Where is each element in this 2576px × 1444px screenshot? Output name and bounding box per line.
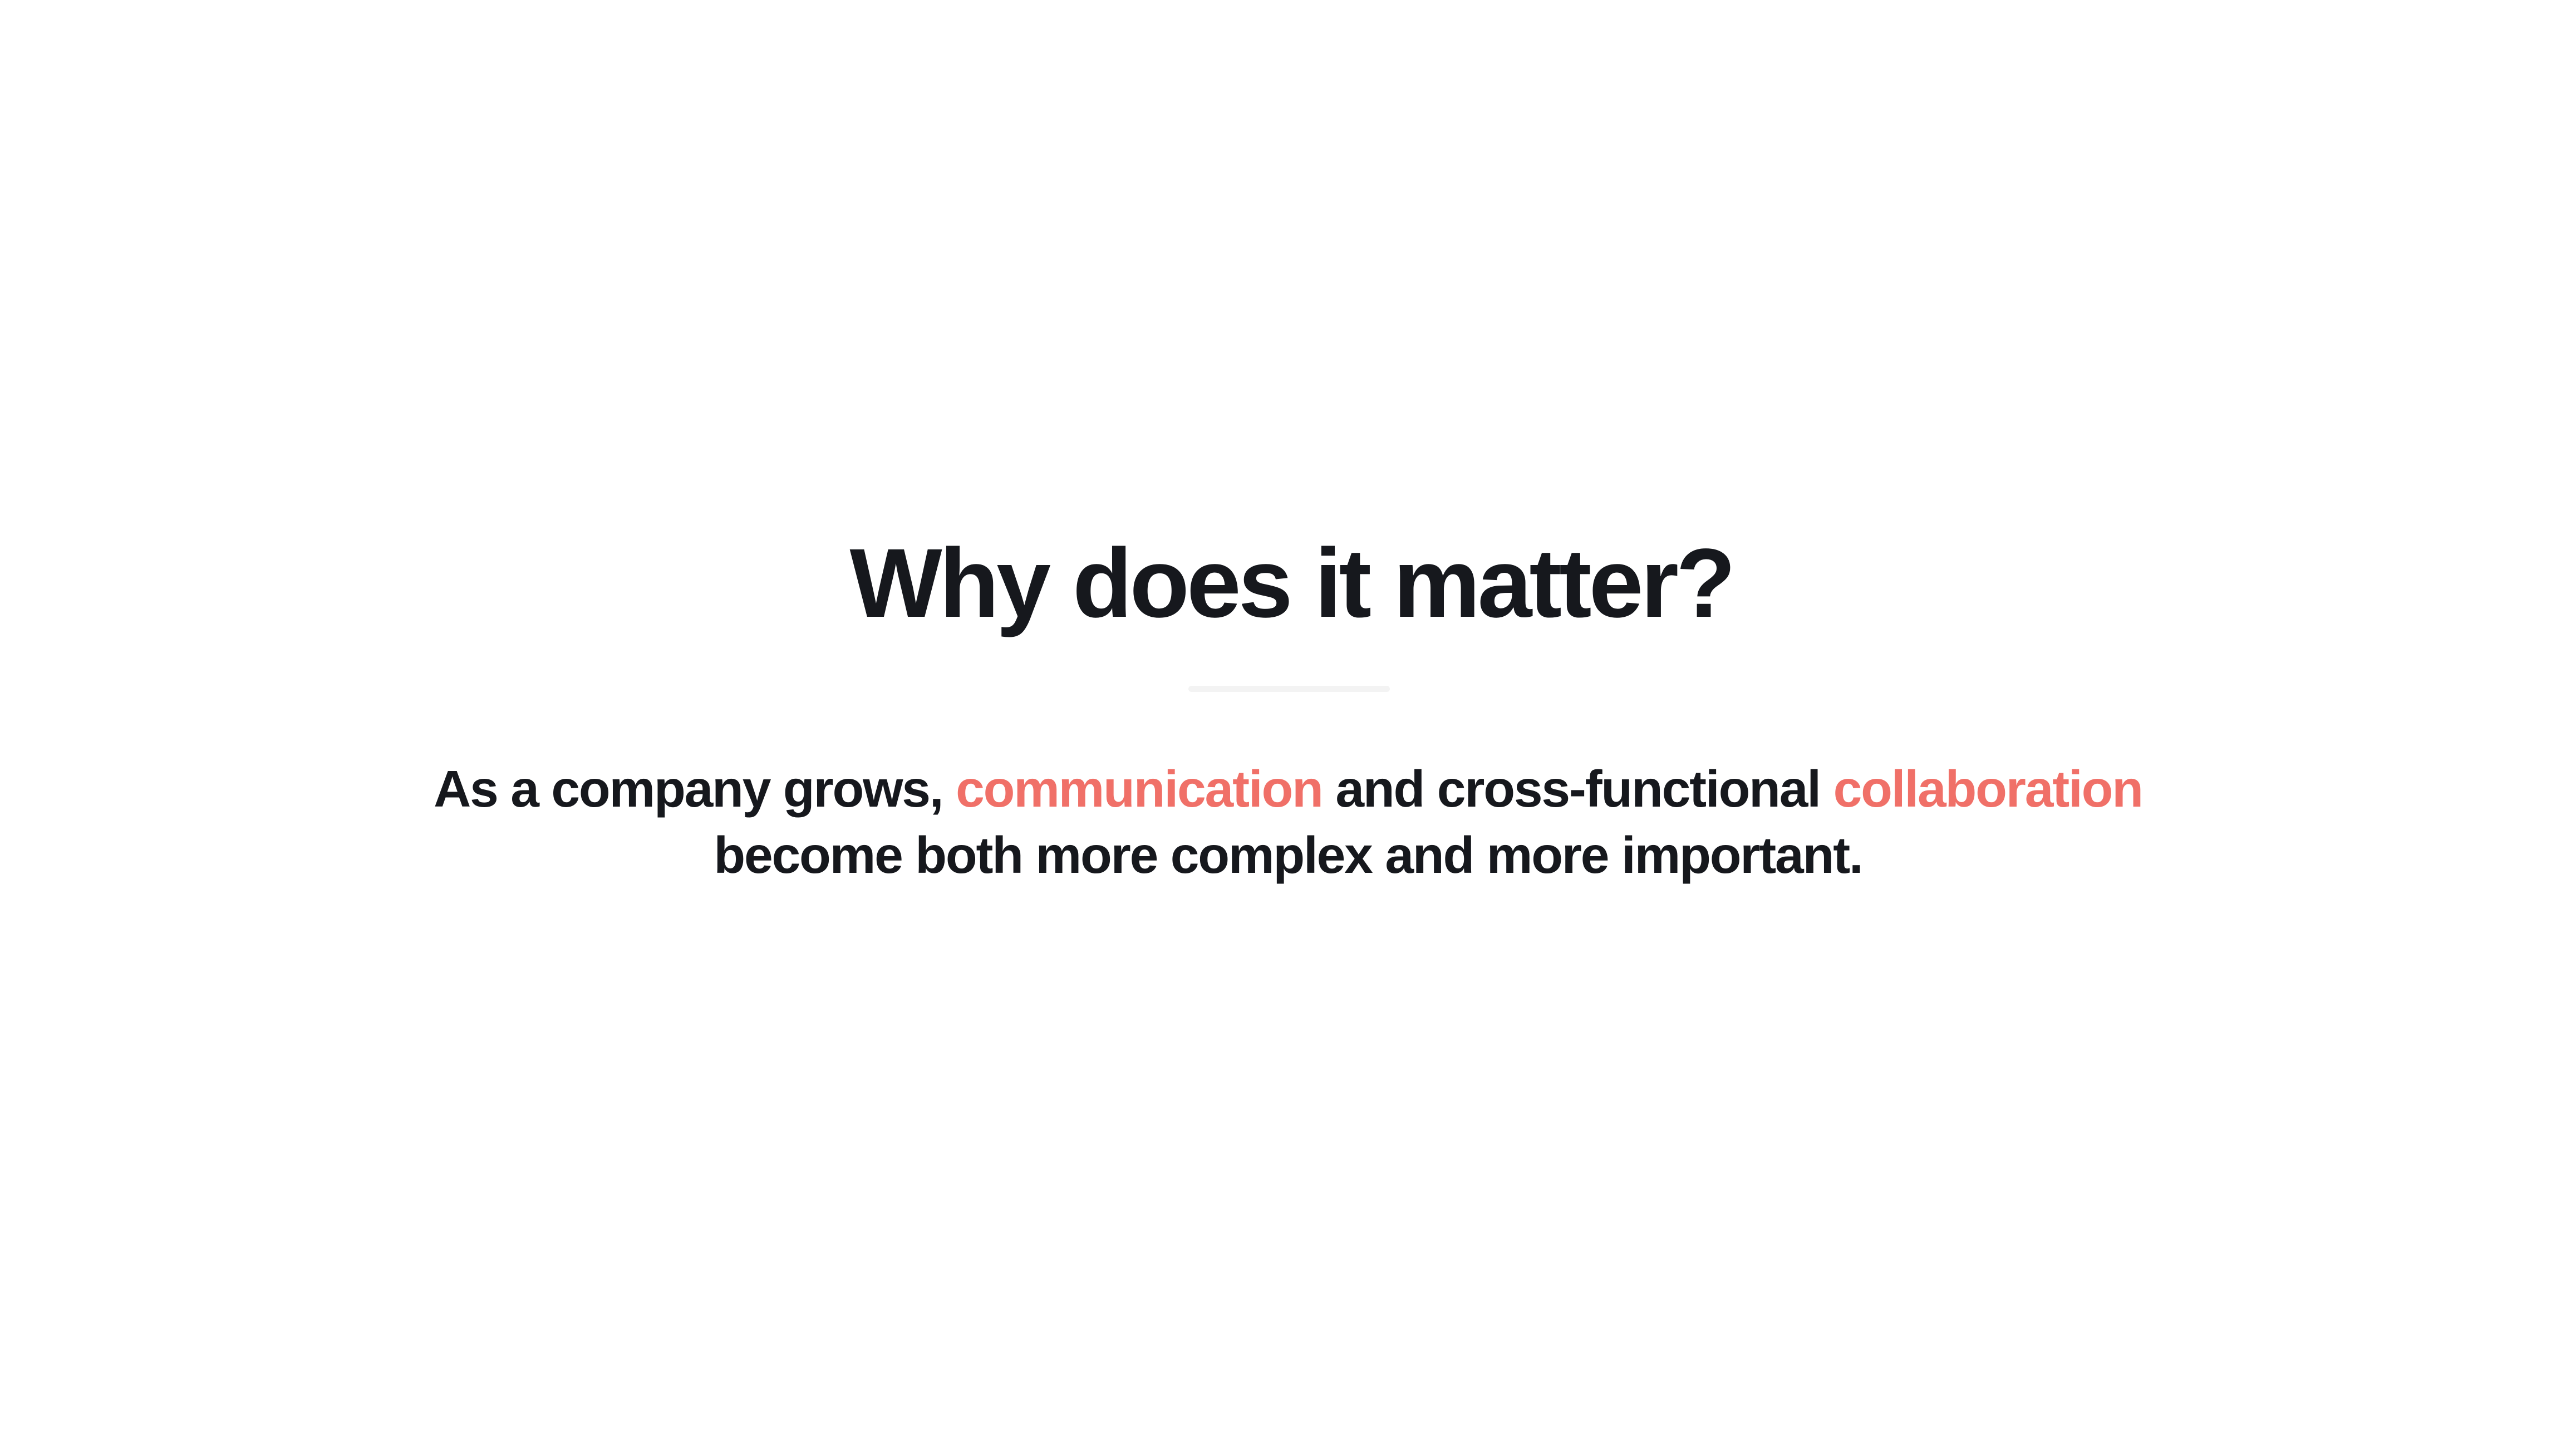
highlight-communication: communication [956, 760, 1323, 818]
body-text-segment-1: As a company grows, [434, 760, 956, 818]
title-block: Why does it matter? [0, 534, 2576, 632]
body-text-segment-2: and cross-functional [1323, 760, 1833, 818]
highlight-collaboration: collaboration [1833, 760, 2142, 818]
body-block: As a company grows, communication and cr… [0, 756, 2576, 888]
body-line-2: become both more complex and more import… [714, 826, 1862, 884]
body-line-1: As a company grows, communication and cr… [434, 760, 2142, 818]
presentation-slide: Why does it matter? As a company grows, … [0, 0, 2576, 1444]
page-title: Why does it matter? [850, 534, 1733, 632]
body-paragraph: As a company grows, communication and cr… [297, 756, 2279, 888]
title-underline-bar [1188, 686, 1390, 692]
